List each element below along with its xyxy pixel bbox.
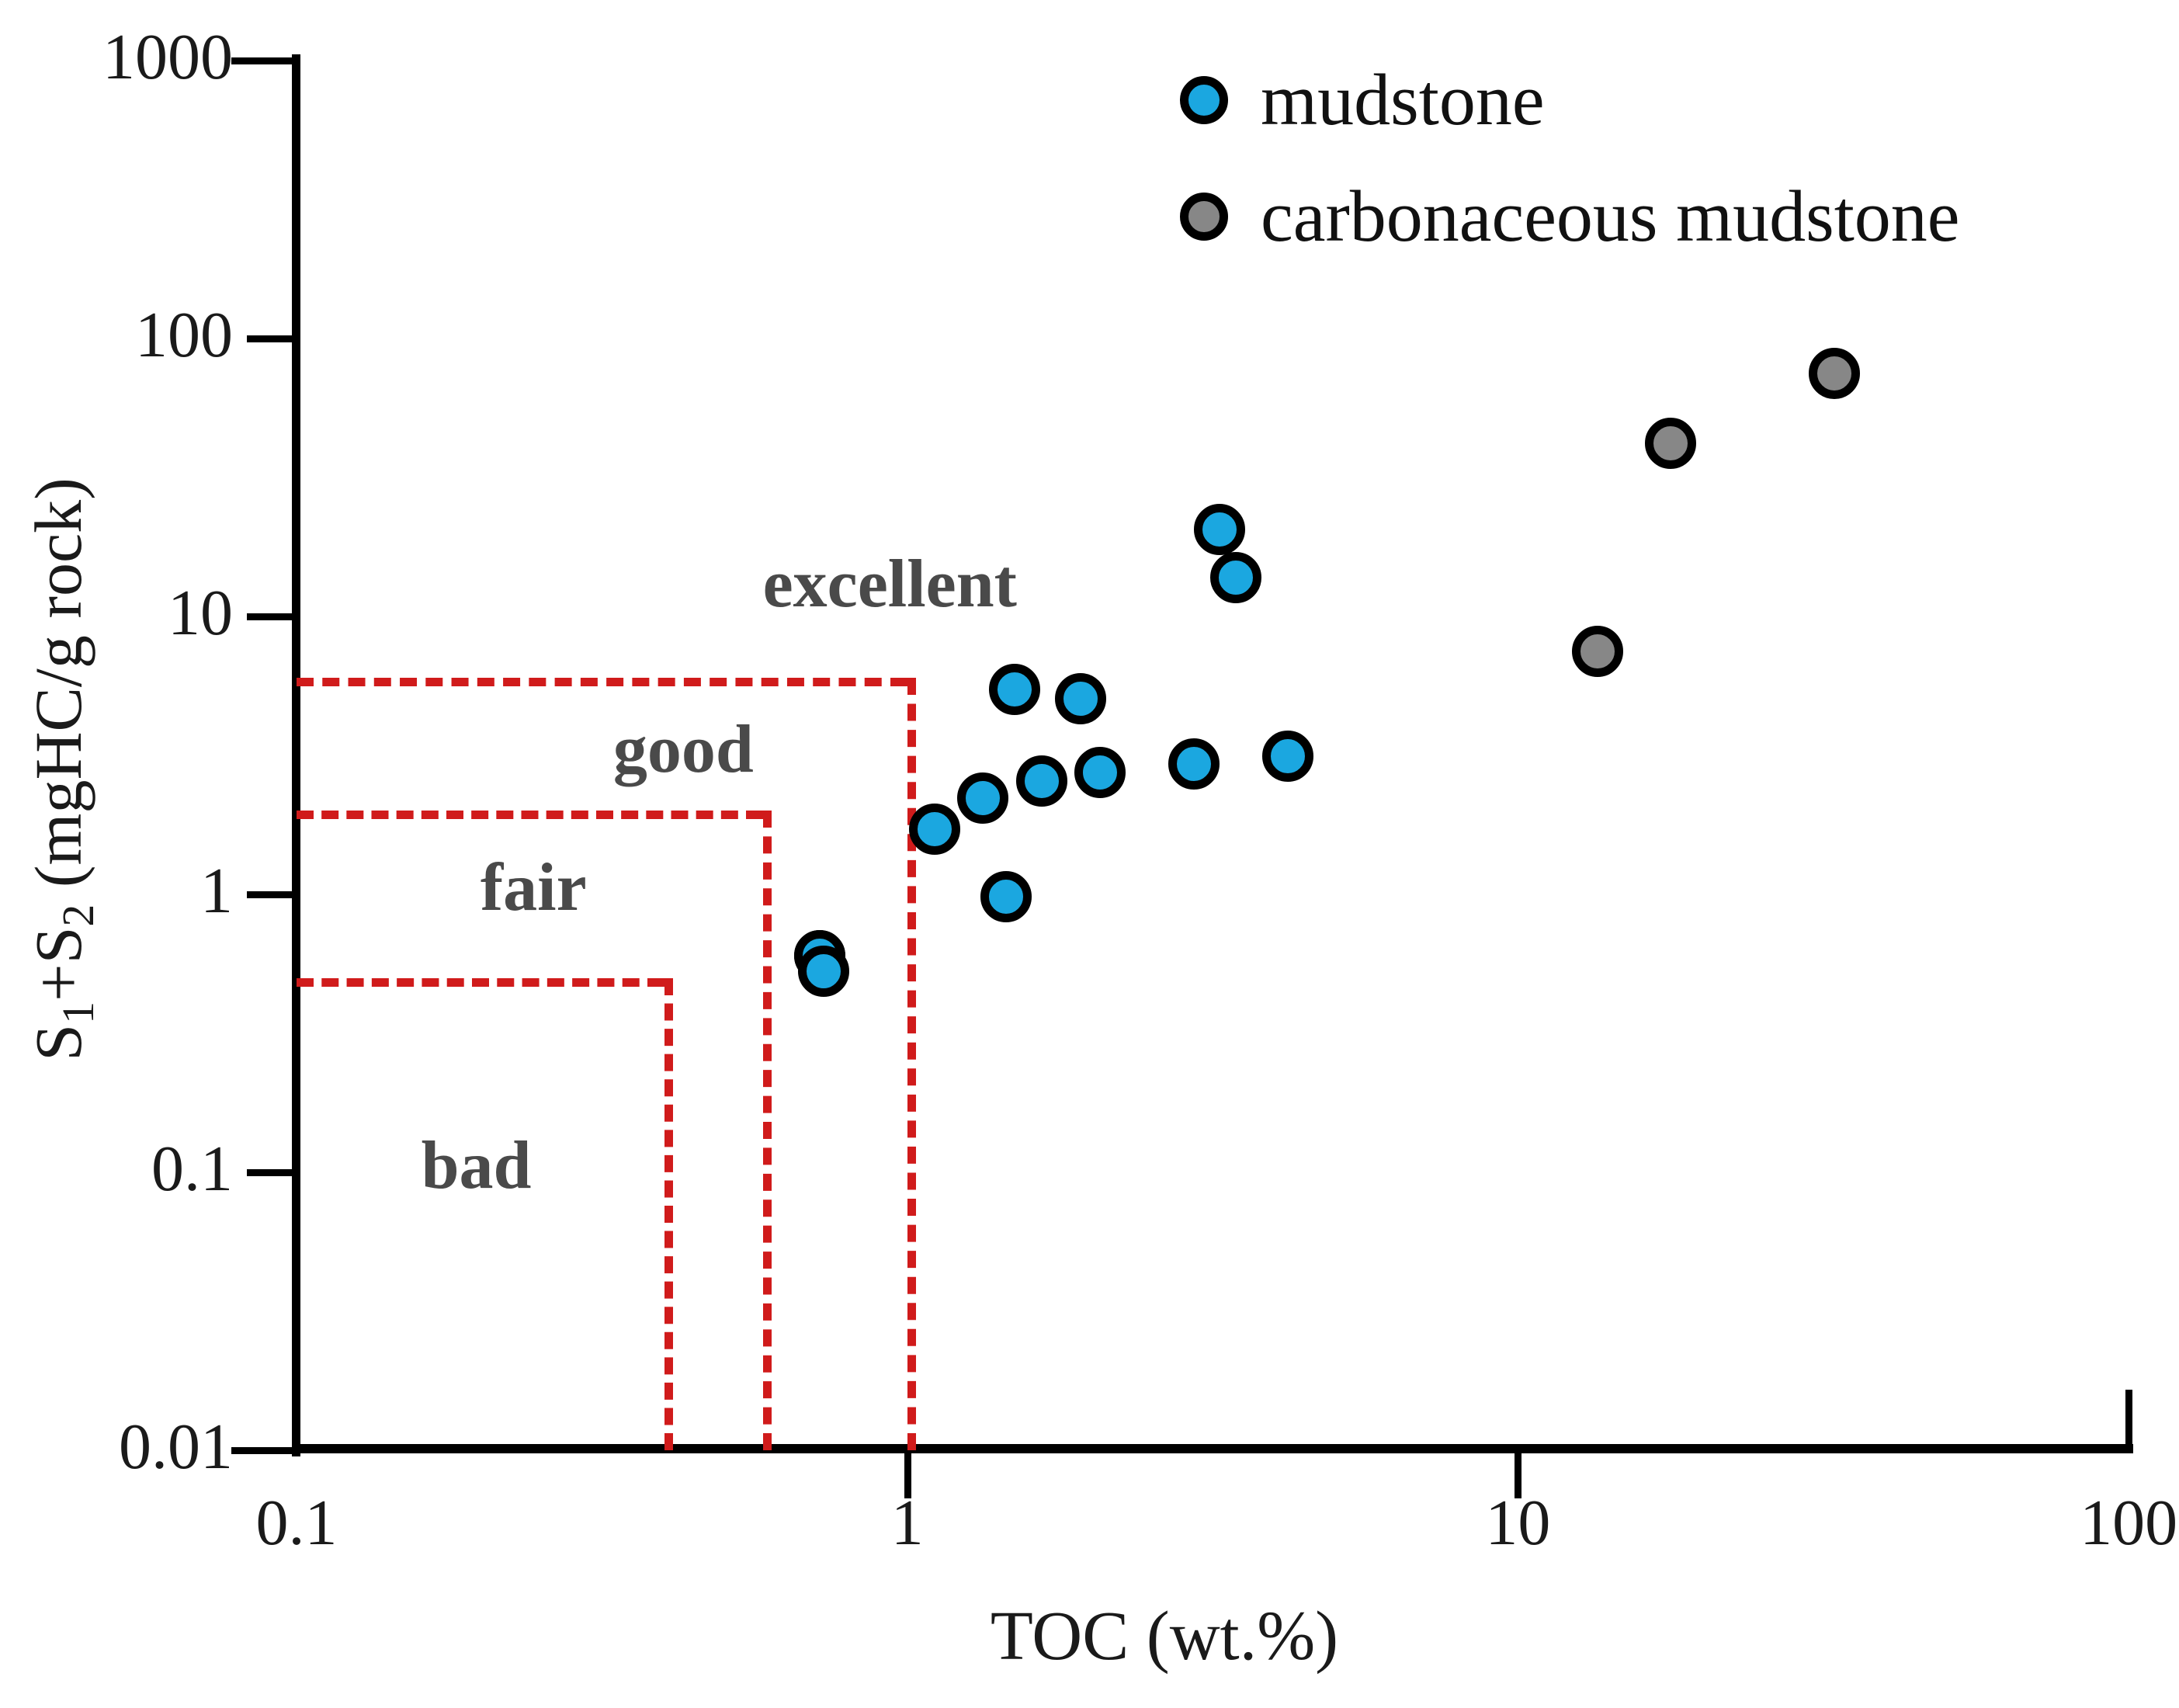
data-point-mudstone-4 <box>980 871 1032 922</box>
zone-label-fair: fair <box>481 852 587 924</box>
y-tick-0-1 <box>247 1169 292 1176</box>
legend-label-mudstone: mudstone <box>1261 62 1545 138</box>
chart-legend: mudstone carbonaceous mudstone <box>1180 62 2096 295</box>
legend-item-carbonaceous-mudstone[interactable]: carbonaceous mudstone <box>1180 179 2096 255</box>
data-point-carbonaceous-mudstone-2 <box>1645 418 1696 469</box>
y-tick-label-0-01: 0.01 <box>0 1415 233 1480</box>
zone-boundary-vertical-2 <box>664 978 673 1450</box>
zone-boundary-horizontal-2 <box>297 978 664 987</box>
zone-label-excellent: excellent <box>763 549 1017 620</box>
data-point-mudstone-3 <box>957 772 1008 824</box>
legend-item-mudstone[interactable]: mudstone <box>1180 62 2096 138</box>
data-point-carbonaceous-mudstone-1 <box>1572 626 1623 677</box>
data-point-mudstone-7 <box>1055 673 1106 724</box>
x-axis-title: TOC (wt.%) <box>543 1599 1785 1674</box>
y-tick-label-1000: 1000 <box>0 25 233 90</box>
zone-boundary-horizontal-0 <box>297 678 907 686</box>
y-tick-1 <box>247 891 292 898</box>
y-axis-title-prefix: S <box>21 1024 95 1061</box>
y-axis-title-suffix: (mgHC/g rock) <box>21 477 95 904</box>
data-point-mudstone-1 <box>798 946 849 997</box>
data-point-mudstone-6 <box>1016 755 1067 807</box>
data-point-mudstone-11 <box>1210 552 1261 603</box>
legend-label-carbonaceous-mudstone: carbonaceous mudstone <box>1261 179 1960 255</box>
zone-label-bad: bad <box>422 1130 532 1202</box>
zone-label-good: good <box>613 714 754 786</box>
x-tick-label-0-1: 0.1 <box>172 1491 421 1556</box>
x-tick-100 <box>2125 1390 2132 1450</box>
data-point-mudstone-8 <box>1074 747 1126 798</box>
y-axis-line <box>292 54 300 1456</box>
y-tick-100 <box>247 335 292 342</box>
x-tick-label-10: 10 <box>1393 1491 1642 1556</box>
y-axis-title: S1+S2 (mgHC/g rock) <box>23 195 102 1344</box>
data-point-mudstone-10 <box>1194 504 1245 555</box>
x-tick-0-1 <box>293 1390 300 1450</box>
x-tick-label-100: 100 <box>2004 1491 2179 1556</box>
zone-boundary-vertical-1 <box>763 811 772 1450</box>
y-axis-title-sub2: 2 <box>53 904 103 927</box>
data-point-mudstone-9 <box>1168 738 1220 790</box>
legend-marker-icon-carbonaceous <box>1180 193 1228 241</box>
data-point-mudstone-5 <box>989 664 1040 715</box>
zone-boundary-vertical-0 <box>907 678 916 1450</box>
y-axis-title-mid: +S <box>21 927 95 1002</box>
y-tick-1000 <box>231 57 292 64</box>
x-axis-line <box>292 1444 2133 1453</box>
zone-boundary-horizontal-1 <box>297 811 763 819</box>
y-tick-10 <box>247 613 292 620</box>
x-tick-label-1: 1 <box>783 1491 1032 1556</box>
chart-figure: 10001001010.10.01 0.1110100 excellentgoo… <box>0 0 2179 1708</box>
data-point-carbonaceous-mudstone-3 <box>1809 348 1860 399</box>
legend-marker-icon-mudstone <box>1180 76 1228 124</box>
data-point-mudstone-12 <box>1262 731 1313 782</box>
data-point-mudstone-2 <box>909 804 960 855</box>
y-axis-title-sub1: 1 <box>53 1002 103 1024</box>
y-tick-0-01 <box>231 1447 292 1454</box>
